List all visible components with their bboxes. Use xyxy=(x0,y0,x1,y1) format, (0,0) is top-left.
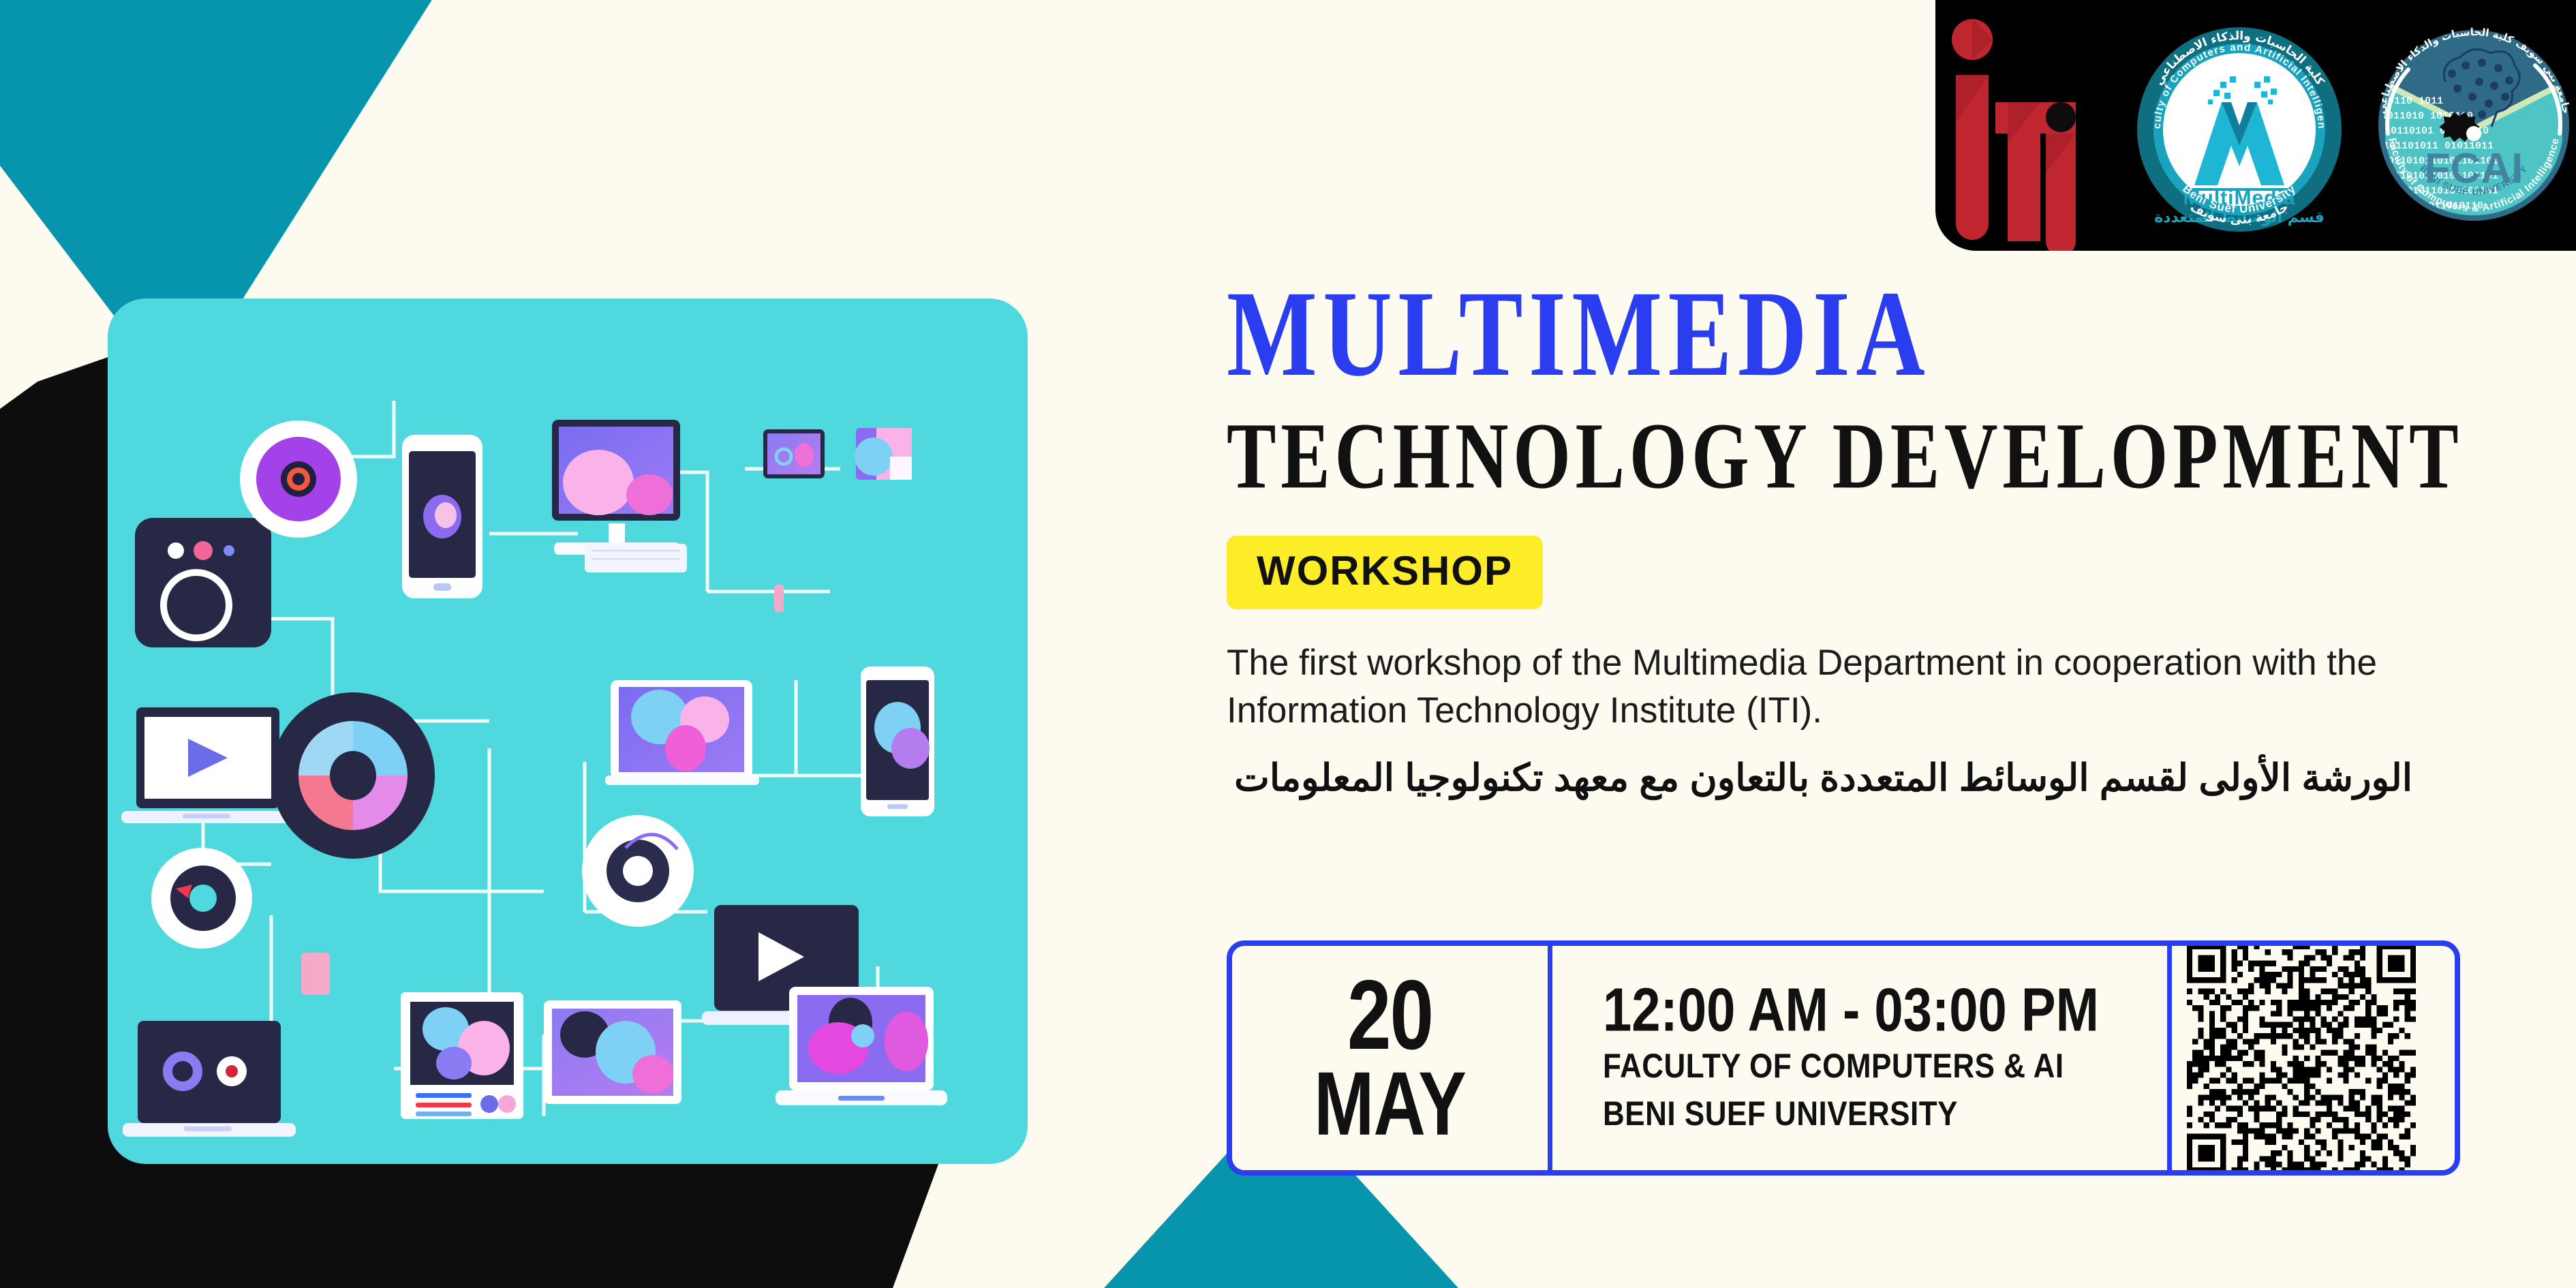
logo-strip: MultiMedia قسم الوسائط المتعددة Faculty … xyxy=(1935,0,2576,251)
event-details: 12:00 AM - 03:00 PM FACULTY OF COMPUTERS… xyxy=(1552,946,2172,1170)
tablet-screen-icon xyxy=(605,680,759,785)
media-circle-icon xyxy=(582,815,694,927)
description-ar: الورشة الأولى لقسم الوسائط المتعددة بالت… xyxy=(1227,752,2412,804)
iti-logo xyxy=(1942,0,2113,251)
page-title: MULTIMEDIA xyxy=(1227,273,2477,396)
event-date: 20 MAY xyxy=(1232,946,1552,1170)
smartphone-icon xyxy=(402,435,482,598)
narrow-phone-icon xyxy=(861,666,934,816)
event-venue-line2: BENI SUEF UNIVERSITY xyxy=(1603,1094,2167,1133)
svg-text:0110 1011: 0110 1011 xyxy=(2388,95,2443,107)
qr-code-container[interactable] xyxy=(2172,946,2455,1170)
event-venue-line1: FACULTY OF COMPUTERS & AI xyxy=(1603,1047,2167,1086)
monitor-bottom-icon xyxy=(544,1000,681,1104)
laptop-right-icon xyxy=(776,987,947,1105)
illustration-svg xyxy=(108,298,1028,1164)
event-time: 12:00 AM - 03:00 PM xyxy=(1603,981,2167,1042)
event-info-bar: 20 MAY 12:00 AM - 03:00 PM FACULTY OF CO… xyxy=(1227,940,2460,1176)
fcai-logo: 0110 1011 1011010 1010110 010110101 0101… xyxy=(2365,0,2576,251)
laptop-play-icon xyxy=(121,707,293,823)
event-day: 20 xyxy=(1347,968,1432,1062)
desktop-monitor-icon xyxy=(552,420,687,572)
description-en: The first workshop of the Multimedia Dep… xyxy=(1227,639,2426,735)
page-subtitle: TECHNOLOGY DEVELOPMENT xyxy=(1227,409,2502,504)
photo-frame-icon xyxy=(401,992,523,1119)
media-card-icon xyxy=(855,428,912,480)
tablet-icon xyxy=(763,429,825,478)
vinyl-record-icon xyxy=(271,692,435,859)
event-month: MAY xyxy=(1314,1062,1466,1148)
qr-code-icon[interactable] xyxy=(2187,944,2416,1173)
camera-icon xyxy=(135,518,271,647)
film-reel-icon xyxy=(151,848,252,949)
laptop-bottom-icon xyxy=(123,1021,296,1137)
illustration-card xyxy=(108,298,1028,1164)
illustration-panel xyxy=(108,298,1028,1164)
lens-icon xyxy=(240,420,357,538)
status-badge: WORKSHOP xyxy=(1227,536,1543,609)
multimedia-department-logo: MultiMedia قسم الوسائط المتعددة Faculty … xyxy=(2121,0,2358,251)
poster-content: MULTIMEDIA TECHNOLOGY DEVELOPMENT WORKSH… xyxy=(1227,273,2542,804)
